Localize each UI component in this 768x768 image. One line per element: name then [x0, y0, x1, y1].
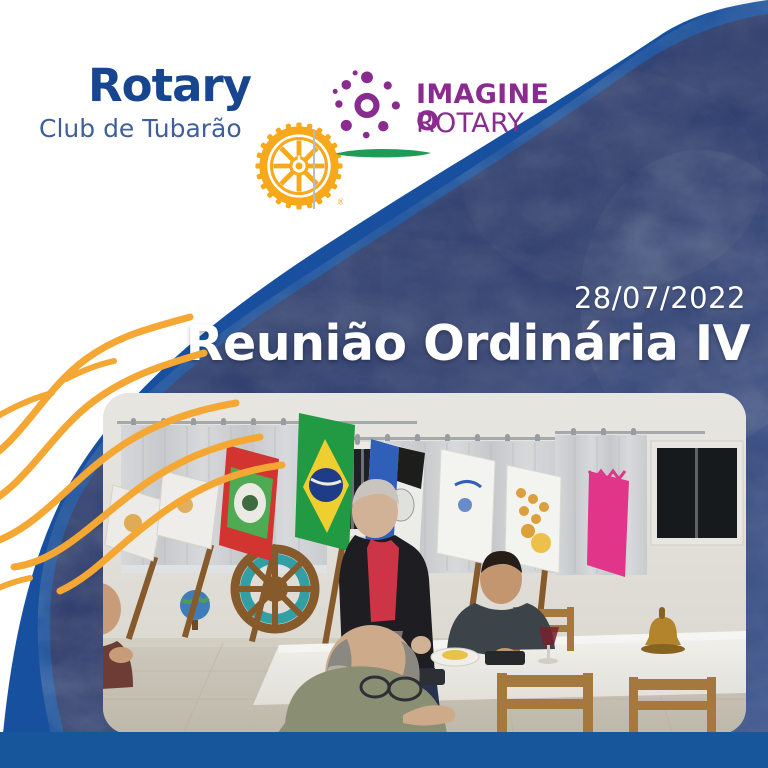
event-title: Reunião Ordinária IV — [186, 318, 750, 371]
poster-canvas: Rotary Club de Tubarão — [0, 0, 768, 768]
meeting-photo-scene — [103, 393, 746, 734]
imagine-sun-burst-icon — [330, 67, 404, 141]
bottom-accent-bar — [0, 732, 768, 768]
meeting-photo — [103, 393, 746, 734]
imagine-line-2: ROTARY — [416, 110, 524, 137]
logo-bar: Rotary Club de Tubarão — [0, 55, 768, 170]
rotary-wordmark: Rotary — [88, 63, 251, 108]
event-date: 28/07/2022 — [574, 281, 746, 315]
imagine-rotary-logo: IMAGINE O ROTARY — [330, 55, 580, 170]
rotary-club-logo: Rotary Club de Tubarão — [36, 55, 308, 165]
logo-divider — [313, 131, 315, 209]
green-brush-underline-icon — [328, 143, 440, 161]
svg-text:®: ® — [337, 198, 343, 207]
rotary-club-name: Club de Tubarão — [39, 116, 242, 141]
